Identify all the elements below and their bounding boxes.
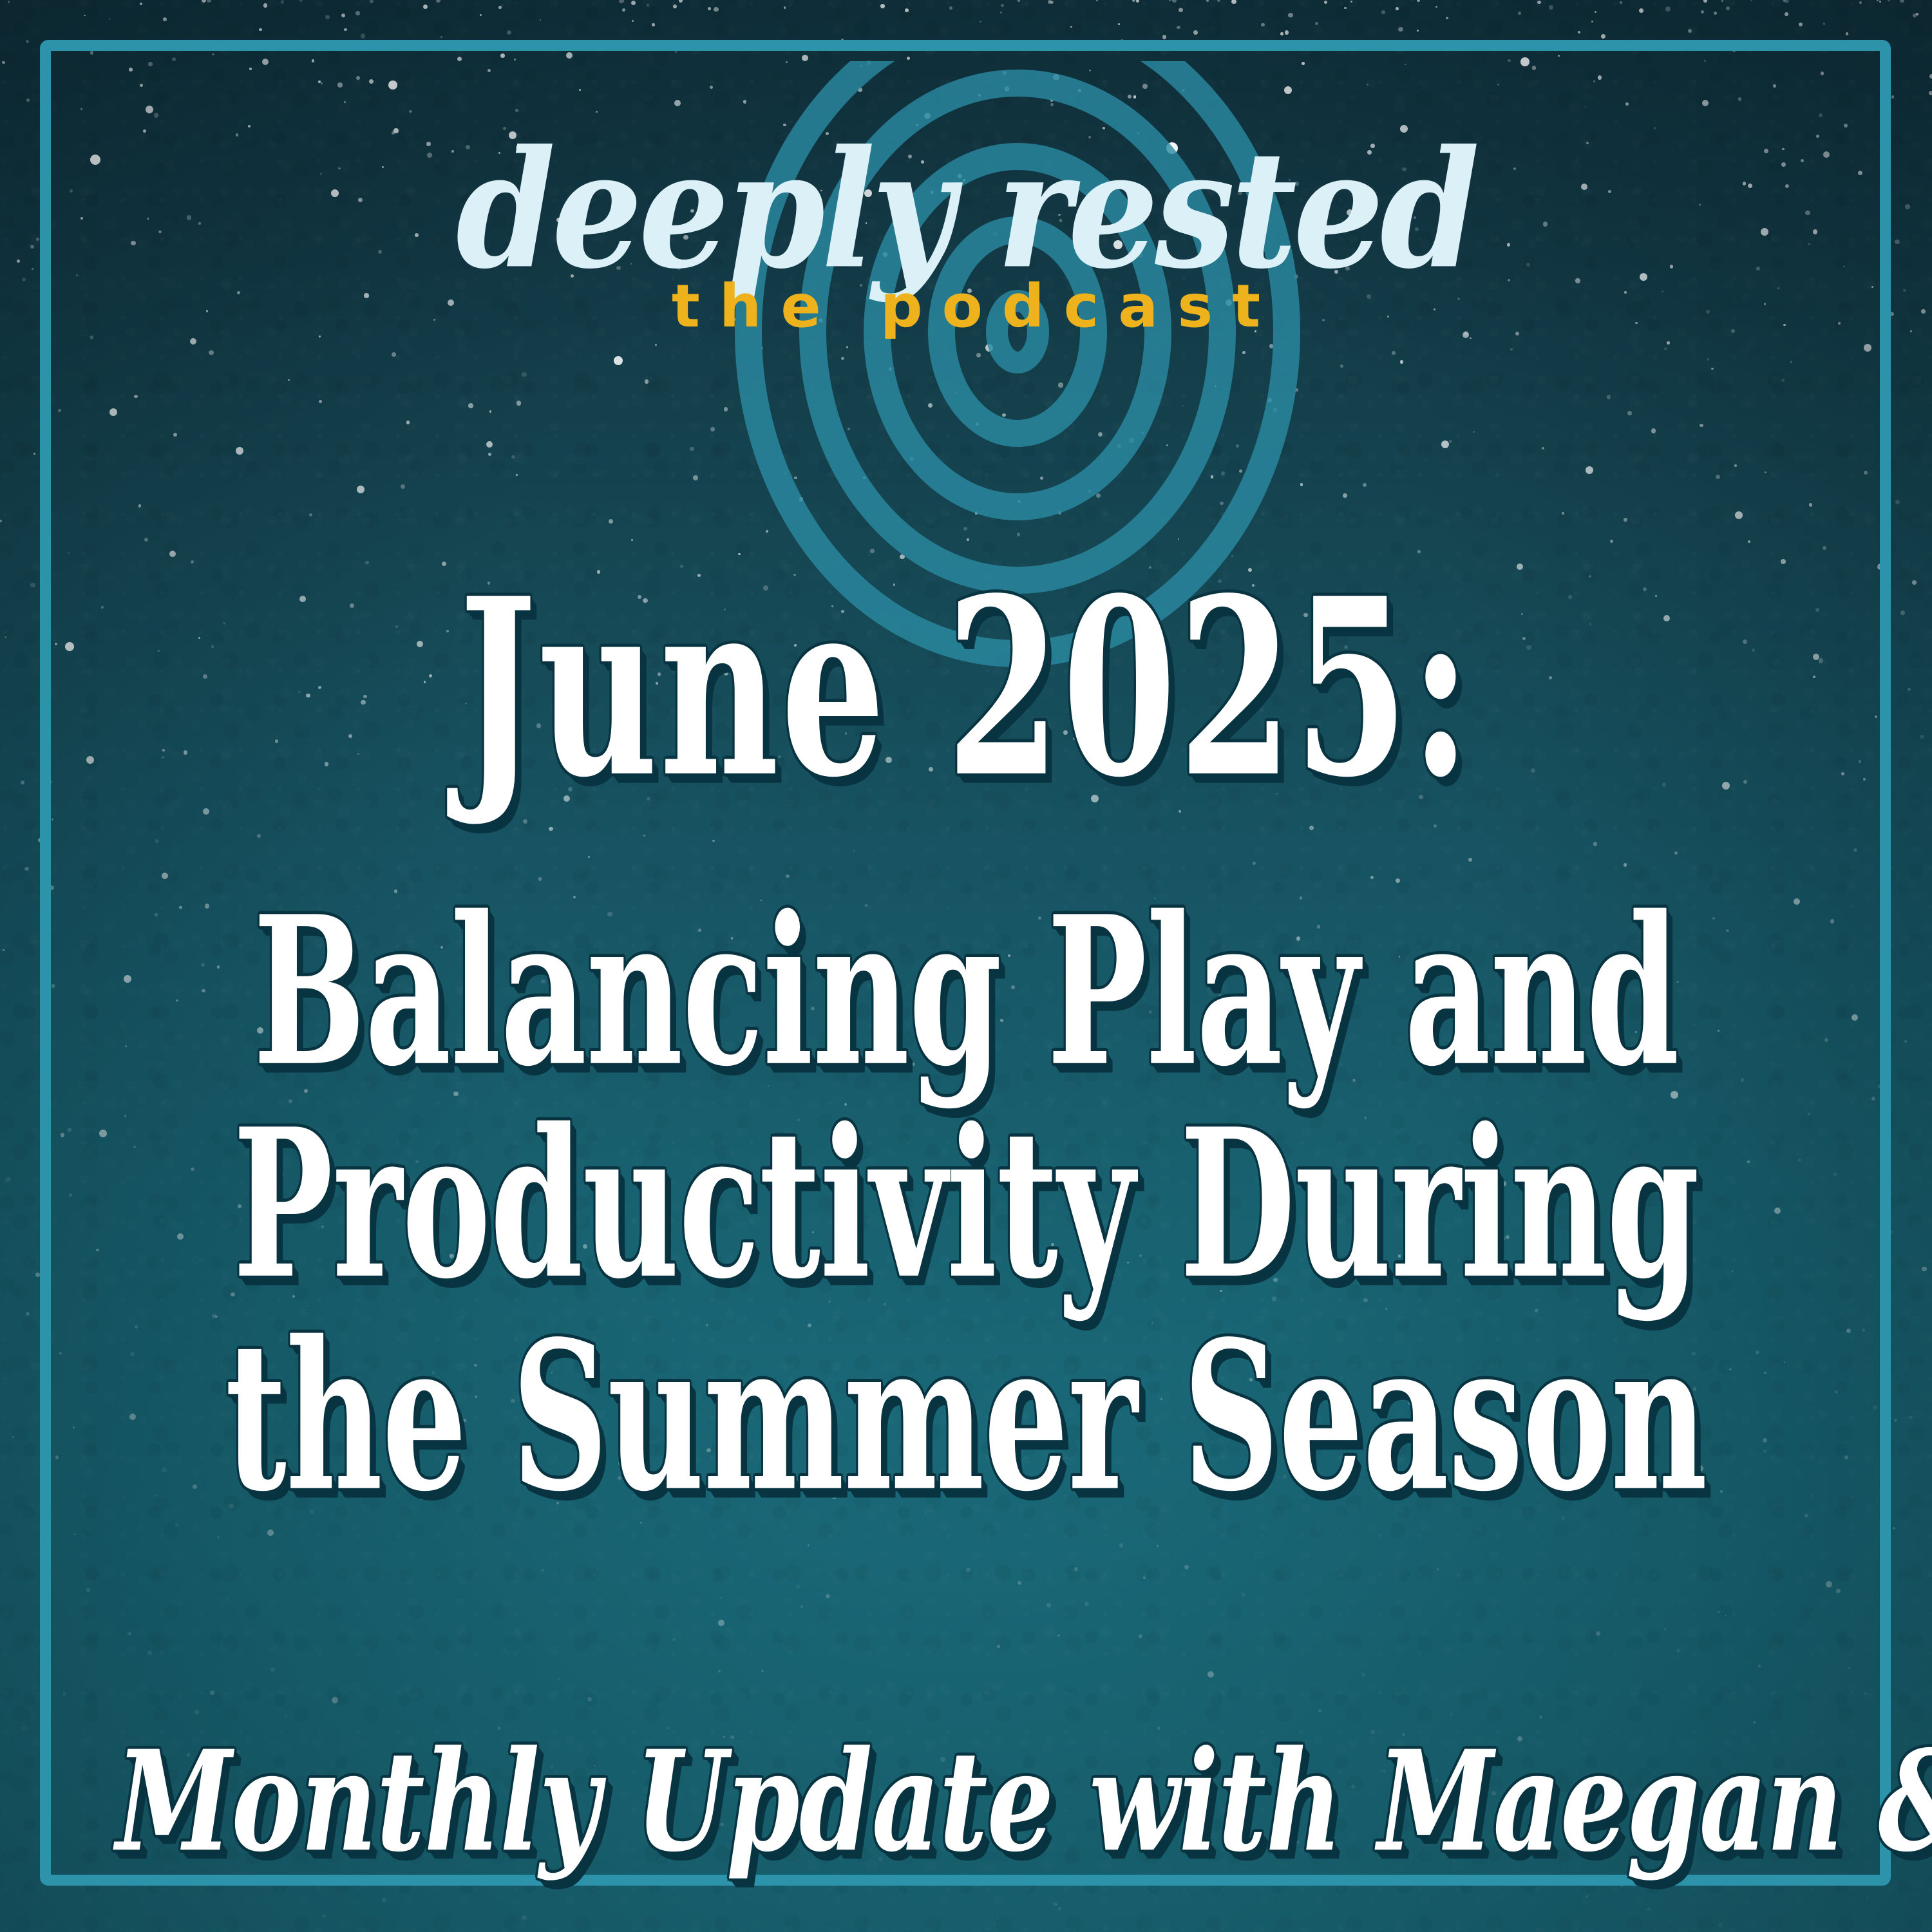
podcast-cover-art: deeply rested the podcast June 2025: Bal…	[0, 0, 1932, 1932]
podcast-logo: deeply rested the podcast	[0, 0, 1932, 464]
podcast-wordmark: deeply rested	[29, 129, 1903, 290]
episode-title-main: June 2025:	[174, 567, 1758, 810]
episode-host-credit: Monthly Update with Maegan & Nancy	[116, 1732, 1816, 1871]
episode-subtitle: Balancing Play and Productivity During t…	[0, 885, 1932, 1523]
episode-subtitle-line-3: the Summer Season	[193, 1286, 1739, 1548]
podcast-tagline: the podcast	[0, 277, 1932, 336]
